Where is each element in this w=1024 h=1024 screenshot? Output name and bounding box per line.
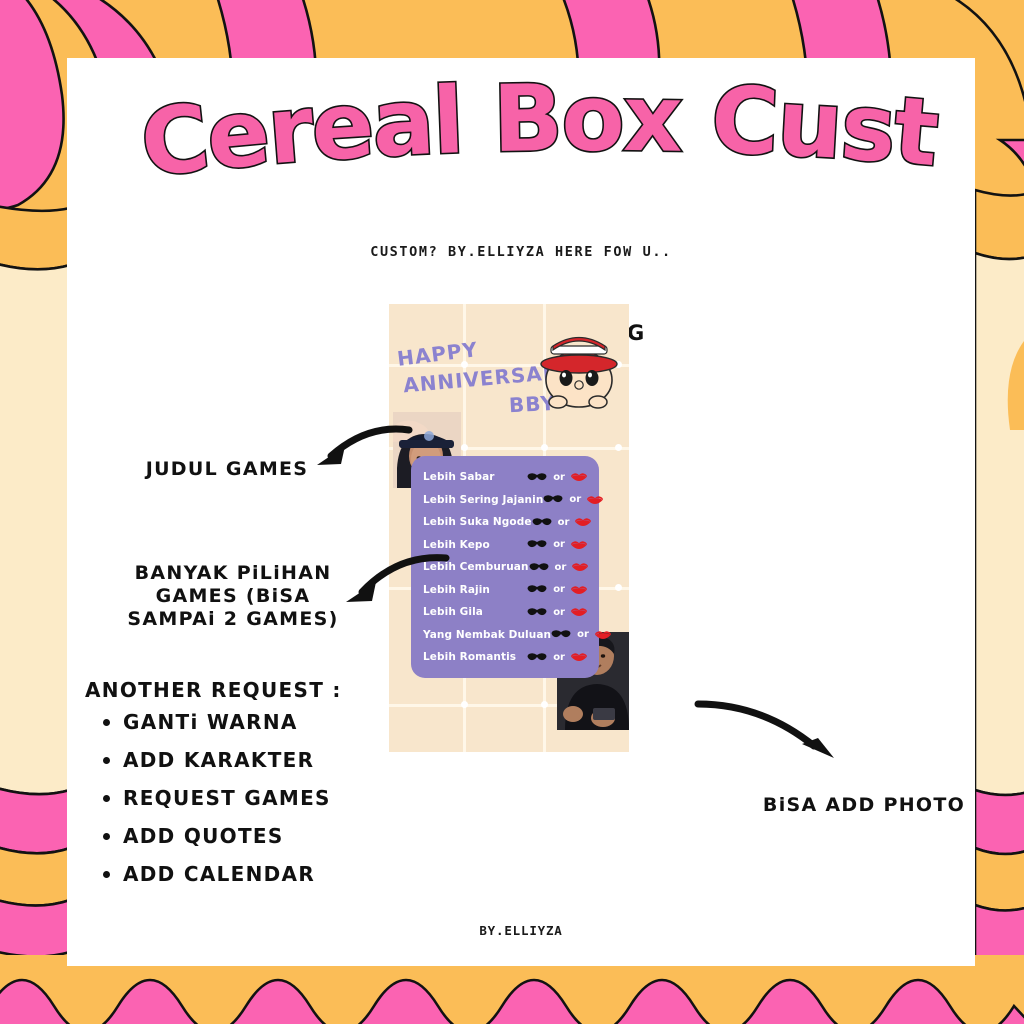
another-request-item: ADD CALENDAR [123, 862, 425, 886]
grid-dot [541, 701, 548, 708]
grid-dot [615, 444, 622, 451]
game-option-choices: or [527, 584, 587, 595]
tsum-svg [535, 328, 623, 412]
mustache-icon [551, 630, 571, 639]
game-option-choices: or [527, 539, 587, 550]
lips-icon [571, 473, 587, 481]
mustache-icon [527, 585, 547, 594]
mustache-icon [529, 563, 549, 572]
game-option-row: Lebih Rajinor [411, 579, 599, 602]
game-option-row: Lebih Sabaror [411, 466, 599, 489]
option-separator: or [553, 539, 565, 550]
another-request-title: ANOTHER REQUEST : [85, 678, 425, 702]
poster-canvas: Cereal Box Custom CUSTOM? BY.ELLIYZA HER… [0, 0, 1024, 1024]
game-option-label: Lebih Rajin [423, 584, 490, 596]
game-option-label: Lebih Romantis [423, 651, 516, 663]
page-title: Cereal Box Custom [139, 72, 969, 197]
footer-credit: BY.ELLIYZA [67, 923, 975, 938]
option-separator: or [553, 584, 565, 595]
mustache-icon [527, 473, 547, 482]
another-request-item: ADD KARAKTER [123, 748, 425, 772]
white-page: Cereal Box Custom CUSTOM? BY.ELLIYZA HER… [67, 58, 975, 966]
another-request-item: GANTi WARNA [123, 710, 425, 734]
games-option-list-panel: Lebih SabarorLebih Sering JajaninorLebih… [411, 456, 599, 678]
lips-icon [571, 541, 587, 549]
annotation-judul-games: JUDUL GAMES [112, 458, 342, 481]
grid-dot [461, 444, 468, 451]
lips-icon [571, 586, 587, 594]
game-option-row: Lebih Cemburuanor [411, 556, 599, 579]
game-option-row: Lebih Kepoor [411, 534, 599, 557]
game-option-label: Lebih Gila [423, 606, 483, 618]
option-separator: or [553, 607, 565, 618]
mustache-icon [527, 540, 547, 549]
game-option-row: Lebih Romantisor [411, 646, 599, 669]
game-option-label: Lebih Cemburuan [423, 561, 529, 573]
grid-dot [615, 584, 622, 591]
subtitle: CUSTOM? BY.ELLIYZA HERE FOW U.. [67, 244, 975, 260]
option-separator: or [569, 494, 581, 505]
grid-dot [541, 444, 548, 451]
title-svg: Cereal Box Custom [139, 72, 969, 197]
option-separator: or [553, 472, 565, 483]
game-option-row: Yang Nembak Duluanor [411, 624, 599, 647]
another-request-list: GANTi WARNAADD KARAKTERREQUEST GAMESADD … [85, 710, 425, 886]
option-separator: or [553, 652, 565, 663]
game-option-label: Yang Nembak Duluan [423, 629, 551, 641]
lips-icon [575, 518, 591, 526]
lips-icon [587, 496, 603, 504]
mustache-icon [543, 495, 563, 504]
game-option-label: Lebih Suka Ngode [423, 516, 532, 528]
mustache-icon [532, 518, 552, 527]
title-text: Cereal Box Custom [139, 72, 941, 197]
mustache-icon [527, 653, 547, 662]
game-option-label: Lebih Kepo [423, 539, 490, 551]
lips-icon [571, 653, 587, 661]
game-option-label: Lebih Sabar [423, 471, 495, 483]
another-request-block: ANOTHER REQUEST : GANTi WARNAADD KARAKTE… [85, 678, 425, 900]
option-separator: or [577, 629, 589, 640]
game-option-label: Lebih Sering Jajanin [423, 494, 543, 506]
another-request-item: REQUEST GAMES [123, 786, 425, 810]
lips-icon [571, 608, 587, 616]
arrow-to-bisa-add-photo-icon [692, 688, 842, 774]
option-separator: or [555, 562, 567, 573]
annotation-banyak-pilihan: BANYAK PiLiHAN GAMES (BiSA SAMPAi 2 GAME… [109, 562, 357, 632]
arrow3-svg [692, 688, 842, 774]
lips-icon [572, 563, 588, 571]
game-option-choices: or [532, 517, 592, 528]
option-separator: or [558, 517, 570, 528]
another-request-item: ADD QUOTES [123, 824, 425, 848]
game-option-choices: or [527, 652, 587, 663]
annotation-bisa-add-photo: BiSA ADD PHOTO [739, 794, 989, 817]
game-option-choices: or [551, 629, 611, 640]
game-option-row: Lebih Suka Ngodeor [411, 511, 599, 534]
mustache-icon [527, 608, 547, 617]
cereal-box-card-preview: HAPPY ANNIVERSARY BBY [389, 304, 629, 752]
lips-icon [595, 631, 611, 639]
games-option-rows: Lebih SabarorLebih Sering JajaninorLebih… [411, 466, 599, 669]
game-option-row: Lebih Sering Jajaninor [411, 489, 599, 512]
game-option-choices: or [527, 472, 587, 483]
game-option-choices: or [529, 562, 589, 573]
game-option-choices: or [543, 494, 603, 505]
game-option-row: Lebih Gilaor [411, 601, 599, 624]
game-option-choices: or [527, 607, 587, 618]
grid-dot [461, 701, 468, 708]
tsum-tsum-red-hat-icon [535, 328, 623, 412]
